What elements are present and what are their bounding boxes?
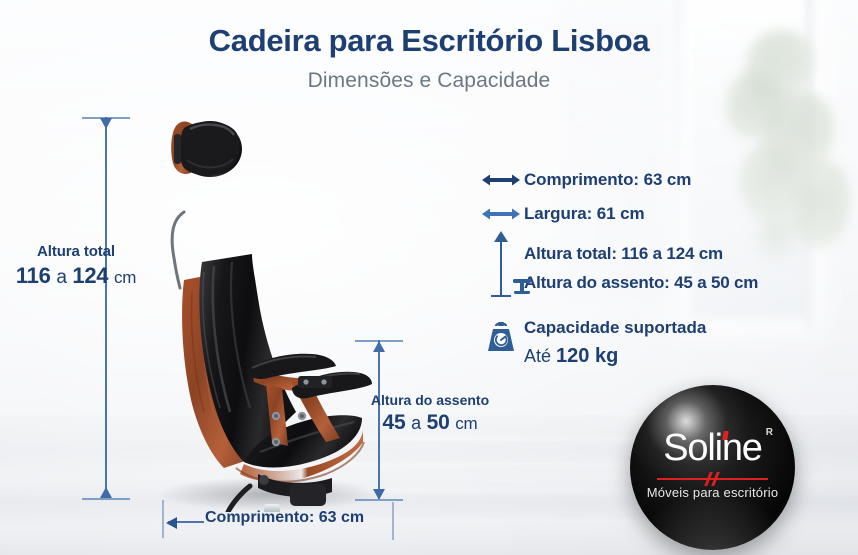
length-extension-right [392,502,394,540]
arrow-left-icon [166,517,177,529]
total-height-dimension-line [105,117,107,499]
spec-text: Comprimento: 63 cm [524,170,691,190]
height-measure-line [500,241,502,297]
total-height-min: 116 [16,263,51,288]
brand-logo: Soline R Móveis para escritório [630,385,795,550]
total-height-connector: a [56,267,66,288]
capacity-label: Capacidade suportada [524,318,706,338]
arrow-up-icon [100,487,112,498]
double-arrow-horizontal-icon [478,172,524,188]
registered-trademark-icon: R [766,427,773,438]
seat-height-min: 45 [383,411,406,434]
capacity-text: Capacidade suportada Até 120 kg [524,318,706,368]
seat-height-cap-bottom [355,499,403,501]
total-height-callout: Altura total 116 a 124 cm [6,243,146,289]
stool-icon [511,277,533,302]
total-height-cap-bottom [82,498,130,500]
page-title: Cadeira para Escritório Lisboa [0,23,858,59]
spec-text: Altura total: 116 a 124 cm [524,244,723,264]
length-callout: Comprimento: 63 cm [205,509,364,527]
spec-row-comprimento: Comprimento: 63 cm [478,163,848,197]
capacity-value: Até 120 kg [524,345,706,368]
seat-height-label: Altura do assento [355,392,505,408]
page-subtitle: Dimensões e Capacidade [0,69,858,93]
spec-text: Altura do assento: 45 a 50 cm [524,273,758,293]
spec-row-largura: Largura: 61 cm [478,197,848,231]
seat-height-connector: a [411,413,421,433]
logo-tagline: Móveis para escritório [630,485,795,500]
double-arrow-horizontal-icon [478,206,524,222]
length-extension-left [162,500,164,538]
height-spec-group: Altura total: 116 a 124 cm Altura do ass… [478,239,848,297]
arrow-up-icon [373,341,385,352]
capacity-block: Capacidade suportada Até 120 kg [478,318,858,368]
seat-height-callout: Altura do assento 45 a 50 cm [355,392,505,435]
total-height-max: 124 [72,263,108,288]
height-measure-base [491,295,511,297]
total-height-label: Altura total [6,243,146,260]
weight-scale-icon [478,318,524,354]
spec-row-altura-total: Altura total: 116 a 124 cm [478,239,848,268]
infographic-canvas: Cadeira para Escritório Lisboa Dimensões… [0,0,858,555]
chair-product-image [140,112,390,512]
seat-height-max: 50 [427,411,450,434]
total-height-unit: cm [114,268,136,287]
capacity-number: 120 kg [556,345,618,367]
specification-list: Comprimento: 63 cm Largura: 61 cm [478,163,848,297]
seat-height-value: 45 a 50 cm [355,411,505,435]
spec-row-altura-assento: Altura do assento: 45 a 50 cm [478,268,848,297]
spec-text: Largura: 61 cm [524,204,644,224]
arrow-down-icon [100,118,112,129]
total-height-value: 116 a 124 cm [6,263,146,289]
seat-height-unit: cm [455,414,477,433]
capacity-prefix: Até [524,346,556,366]
